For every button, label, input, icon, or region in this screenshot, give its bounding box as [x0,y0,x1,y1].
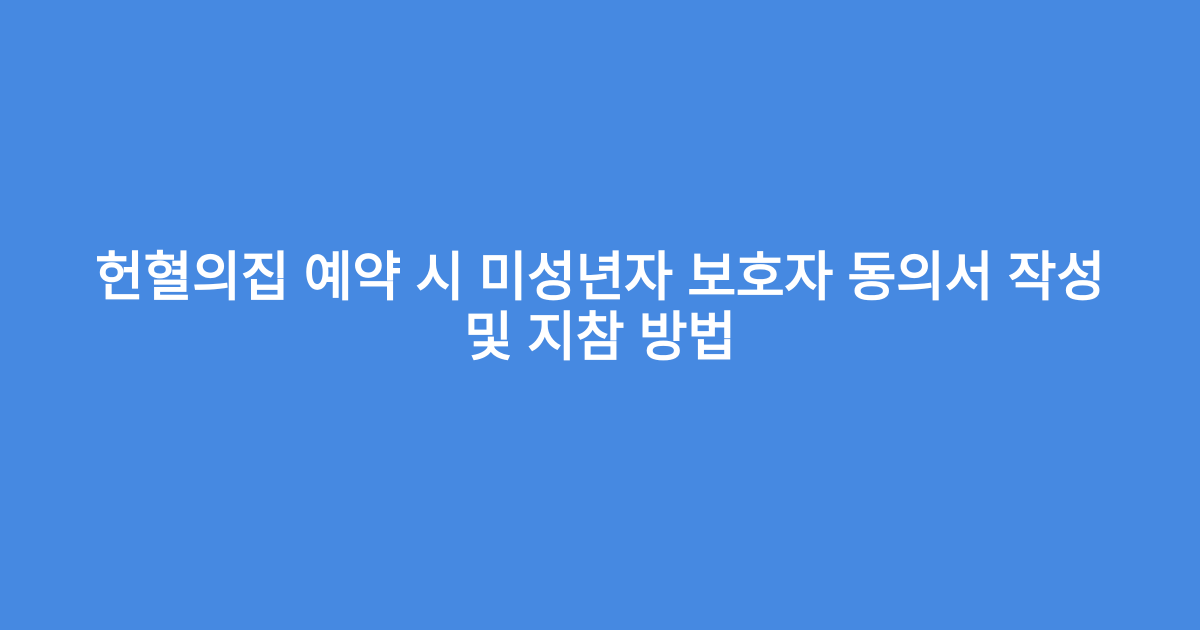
share-card-content: 헌혈의집 예약 시 미성년자 보호자 동의서 작성 및 지참 방법 [0,248,1200,368]
share-card: 헌혈의집 예약 시 미성년자 보호자 동의서 작성 및 지참 방법 [0,0,1200,630]
page-title: 헌혈의집 예약 시 미성년자 보호자 동의서 작성 및 지참 방법 [64,248,1136,368]
